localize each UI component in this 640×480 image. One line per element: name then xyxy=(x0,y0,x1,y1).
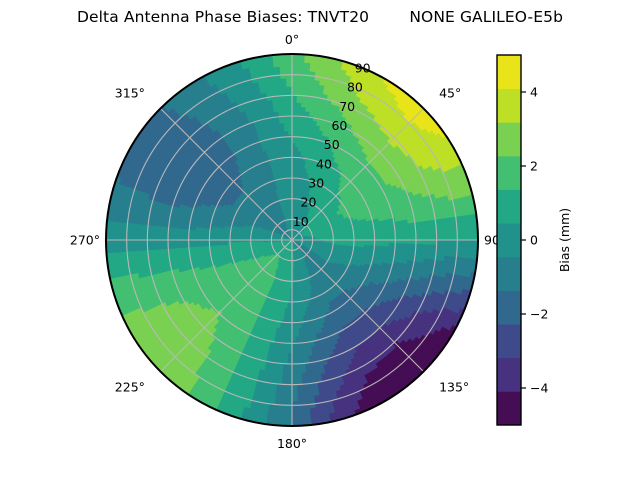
r-tick-label-50: 50 xyxy=(324,137,340,152)
colorbar-tick-label: 2 xyxy=(530,159,538,174)
colorbar-band xyxy=(497,156,521,190)
colorbar-band xyxy=(497,122,521,156)
theta-tick-label-225: 225° xyxy=(115,380,145,395)
r-tick-label-40: 40 xyxy=(316,156,332,171)
colorbar-band xyxy=(497,223,521,257)
colorbar-band xyxy=(497,55,521,89)
figure-canvas: Delta Antenna Phase Biases: TNVT20 NONE … xyxy=(0,0,640,480)
polar-contour-plot: 0°45°90135°180°225°270°315°1020304050607… xyxy=(0,0,640,480)
theta-tick-label-270: 270° xyxy=(70,233,100,248)
r-tick-label-20: 20 xyxy=(301,195,317,210)
colorbar-band xyxy=(497,89,521,123)
polar-grid xyxy=(106,54,478,426)
theta-tick-label-45: 45° xyxy=(439,85,461,100)
colorbar-band xyxy=(497,290,521,324)
colorbar: −4−2024Bias (mm) xyxy=(497,55,572,425)
theta-tick-label-0: 0° xyxy=(285,32,299,47)
colorbar-band xyxy=(497,358,521,392)
r-tick-label-10: 10 xyxy=(293,214,309,229)
colorbar-band xyxy=(497,391,521,425)
theta-tick-label-180: 180° xyxy=(277,436,307,451)
colorbar-band xyxy=(497,324,521,358)
r-tick-label-90: 90 xyxy=(355,61,371,76)
theta-tick-label-135: 135° xyxy=(439,380,469,395)
colorbar-tick-label: 0 xyxy=(530,233,538,248)
colorbar-tick-label: −4 xyxy=(530,381,548,396)
colorbar-band xyxy=(497,257,521,291)
theta-tick-label-315: 315° xyxy=(115,85,145,100)
r-tick-label-80: 80 xyxy=(347,80,363,95)
colorbar-tick-label: 4 xyxy=(530,85,538,100)
r-tick-label-30: 30 xyxy=(308,176,324,191)
r-tick-label-60: 60 xyxy=(331,118,347,133)
r-tick-label-70: 70 xyxy=(339,99,355,114)
colorbar-axis-title: Bias (mm) xyxy=(557,208,572,272)
colorbar-tick-label: −2 xyxy=(530,307,548,322)
colorbar-band xyxy=(497,190,521,224)
